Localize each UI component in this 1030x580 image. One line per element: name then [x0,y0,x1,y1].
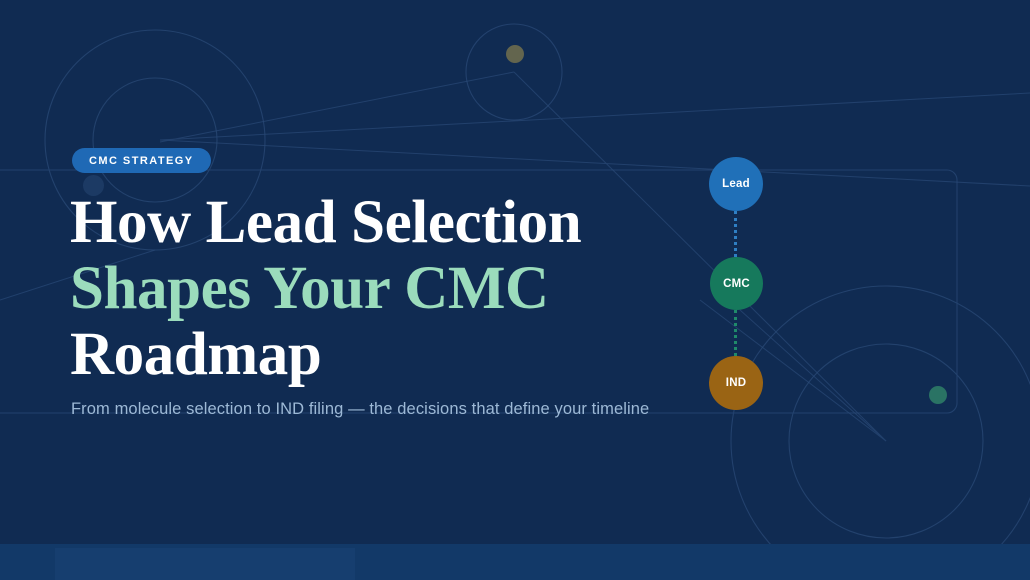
pipeline-node-ind-label: IND [726,377,746,389]
page-title: How Lead Selection Shapes Your CMC Roadm… [70,190,710,388]
decor-line-a [160,140,1030,186]
pipeline-node-cmc-label: CMC [723,278,750,290]
eyebrow-badge-label: CMC STRATEGY [89,155,194,167]
eyebrow-badge: CMC STRATEGY [72,148,211,173]
decor-dot-top [506,45,524,63]
connector-cmc-to-ind [734,310,740,356]
pipeline-node-lead[interactable]: Lead [709,157,763,211]
decor-ring-topcenter [466,24,562,120]
headline-line-3: Roadmap [70,321,321,388]
headline-line-1: How Lead Selection [70,189,581,256]
slide-canvas: CMC STRATEGY How Lead Selection Shapes Y… [0,0,1030,580]
headline-line-2: Shapes Your CMC [70,255,549,322]
decor-dot-bottom-right [929,386,947,404]
subtitle: From molecule selection to IND filing — … [71,398,751,420]
pipeline-node-ind[interactable]: IND [709,356,763,410]
decor-line-c [160,72,514,142]
decor-line-b [160,93,1030,140]
decor-ring-bottomright-outer [731,286,1030,580]
connector-lead-to-cmc [734,211,740,257]
pipeline-node-lead-label: Lead [722,178,750,190]
pipeline-node-cmc[interactable]: CMC [710,257,763,310]
decor-ring-topleft-inner [93,78,217,202]
bottom-band-block [55,548,355,580]
decor-ring-bottomright-inner [789,344,983,538]
